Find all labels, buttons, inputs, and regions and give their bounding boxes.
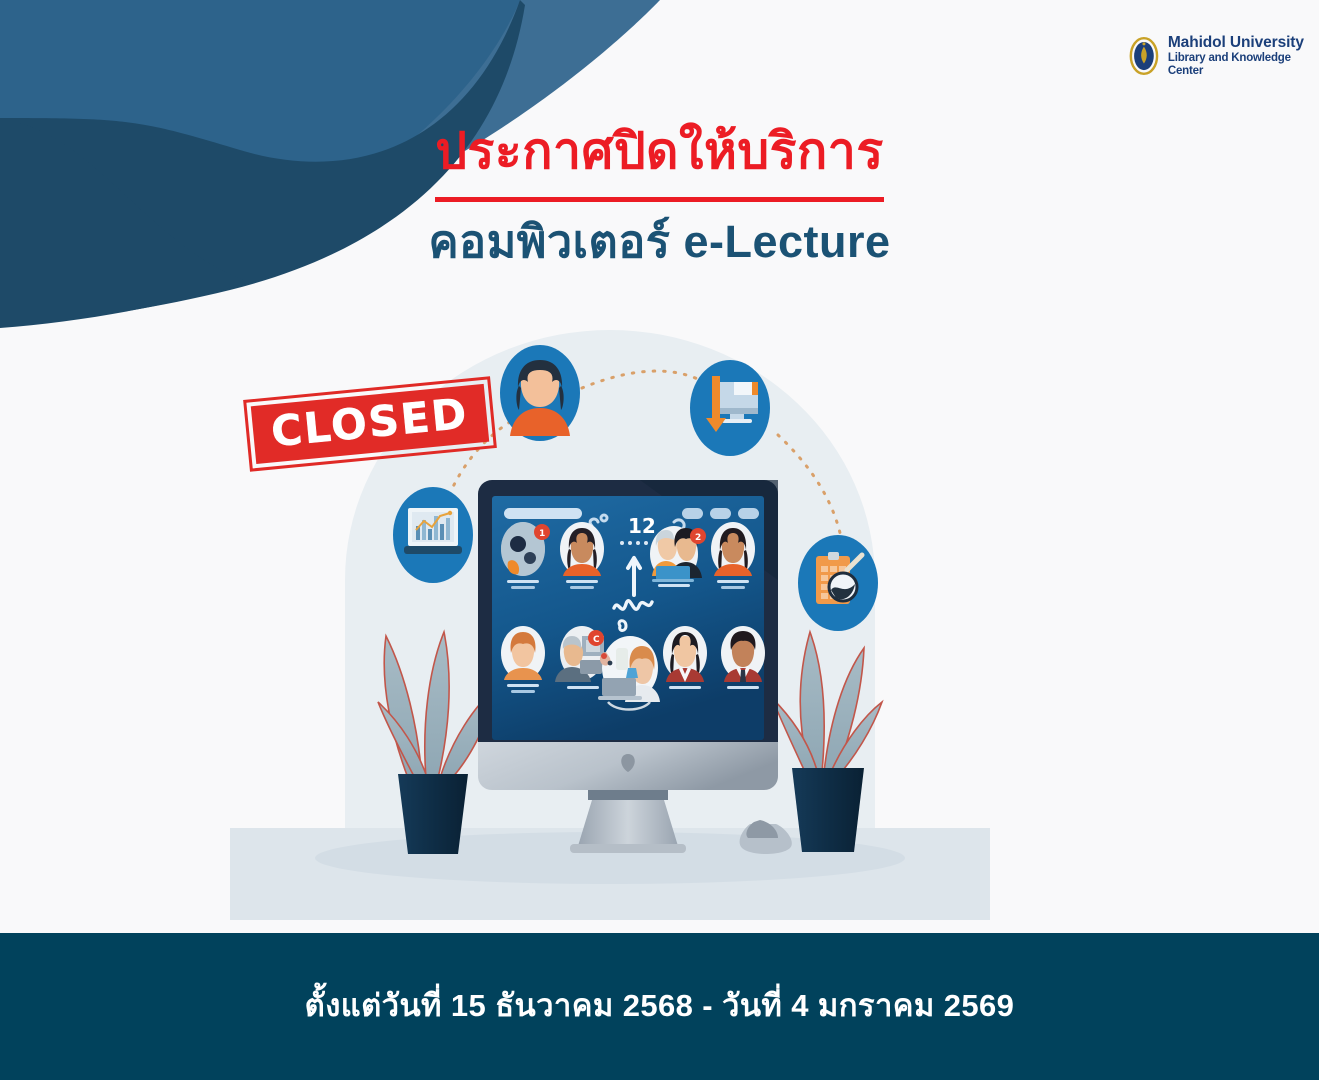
- monitor-stand-foot: [570, 844, 686, 853]
- footer-band: ตั้งแต่วันที่ 15 ธันวาคม 2568 - วันที่ 4…: [0, 933, 1319, 1080]
- chart-presentation-icon: [404, 508, 462, 554]
- logo-title: Mahidol University: [1168, 34, 1319, 52]
- participant-tile[interactable]: 2: [650, 526, 706, 587]
- monitor-neck: [588, 790, 668, 800]
- screen-pill-buttons: [682, 508, 759, 519]
- footer-date-range: ตั้งแต่วันที่ 15 ธันวาคม 2568 - วันที่ 4…: [0, 980, 1319, 1030]
- badge-chart[interactable]: [393, 487, 473, 583]
- svg-text:C: C: [593, 635, 600, 645]
- announcement-poster: Mahidol University Library and Knowledge…: [0, 0, 1319, 1080]
- badge-download[interactable]: [690, 360, 770, 456]
- svg-text:1: 1: [539, 529, 545, 539]
- svg-text:2: 2: [695, 533, 701, 543]
- stamp-fill: CLOSED: [251, 384, 489, 464]
- plant-right-pot: [792, 768, 864, 852]
- participant-tile[interactable]: [663, 626, 707, 689]
- participant-tile[interactable]: [721, 626, 765, 689]
- logo-subtitle: Library and Knowledge Center: [1168, 52, 1319, 78]
- page-title: ประกาศปิดให้บริการ: [0, 112, 1319, 202]
- page-subtitle: คอมพิวเตอร์ e-Lecture: [0, 205, 1319, 277]
- mahidol-logo: Mahidol University Library and Knowledge…: [1128, 34, 1319, 78]
- badge-person[interactable]: [500, 345, 580, 441]
- screen-search-bar: [504, 508, 582, 519]
- badge-clipboard[interactable]: [798, 535, 878, 631]
- mahidol-emblem-icon: [1128, 34, 1160, 78]
- counter-value: 12: [628, 514, 656, 538]
- stamp-text: CLOSED: [269, 393, 470, 454]
- plant-left-pot: [398, 774, 468, 854]
- page-title-text: ประกาศปิดให้บริการ: [435, 112, 883, 202]
- clipboard-magnifier-icon: [816, 552, 862, 604]
- monitor-stand: [578, 800, 678, 846]
